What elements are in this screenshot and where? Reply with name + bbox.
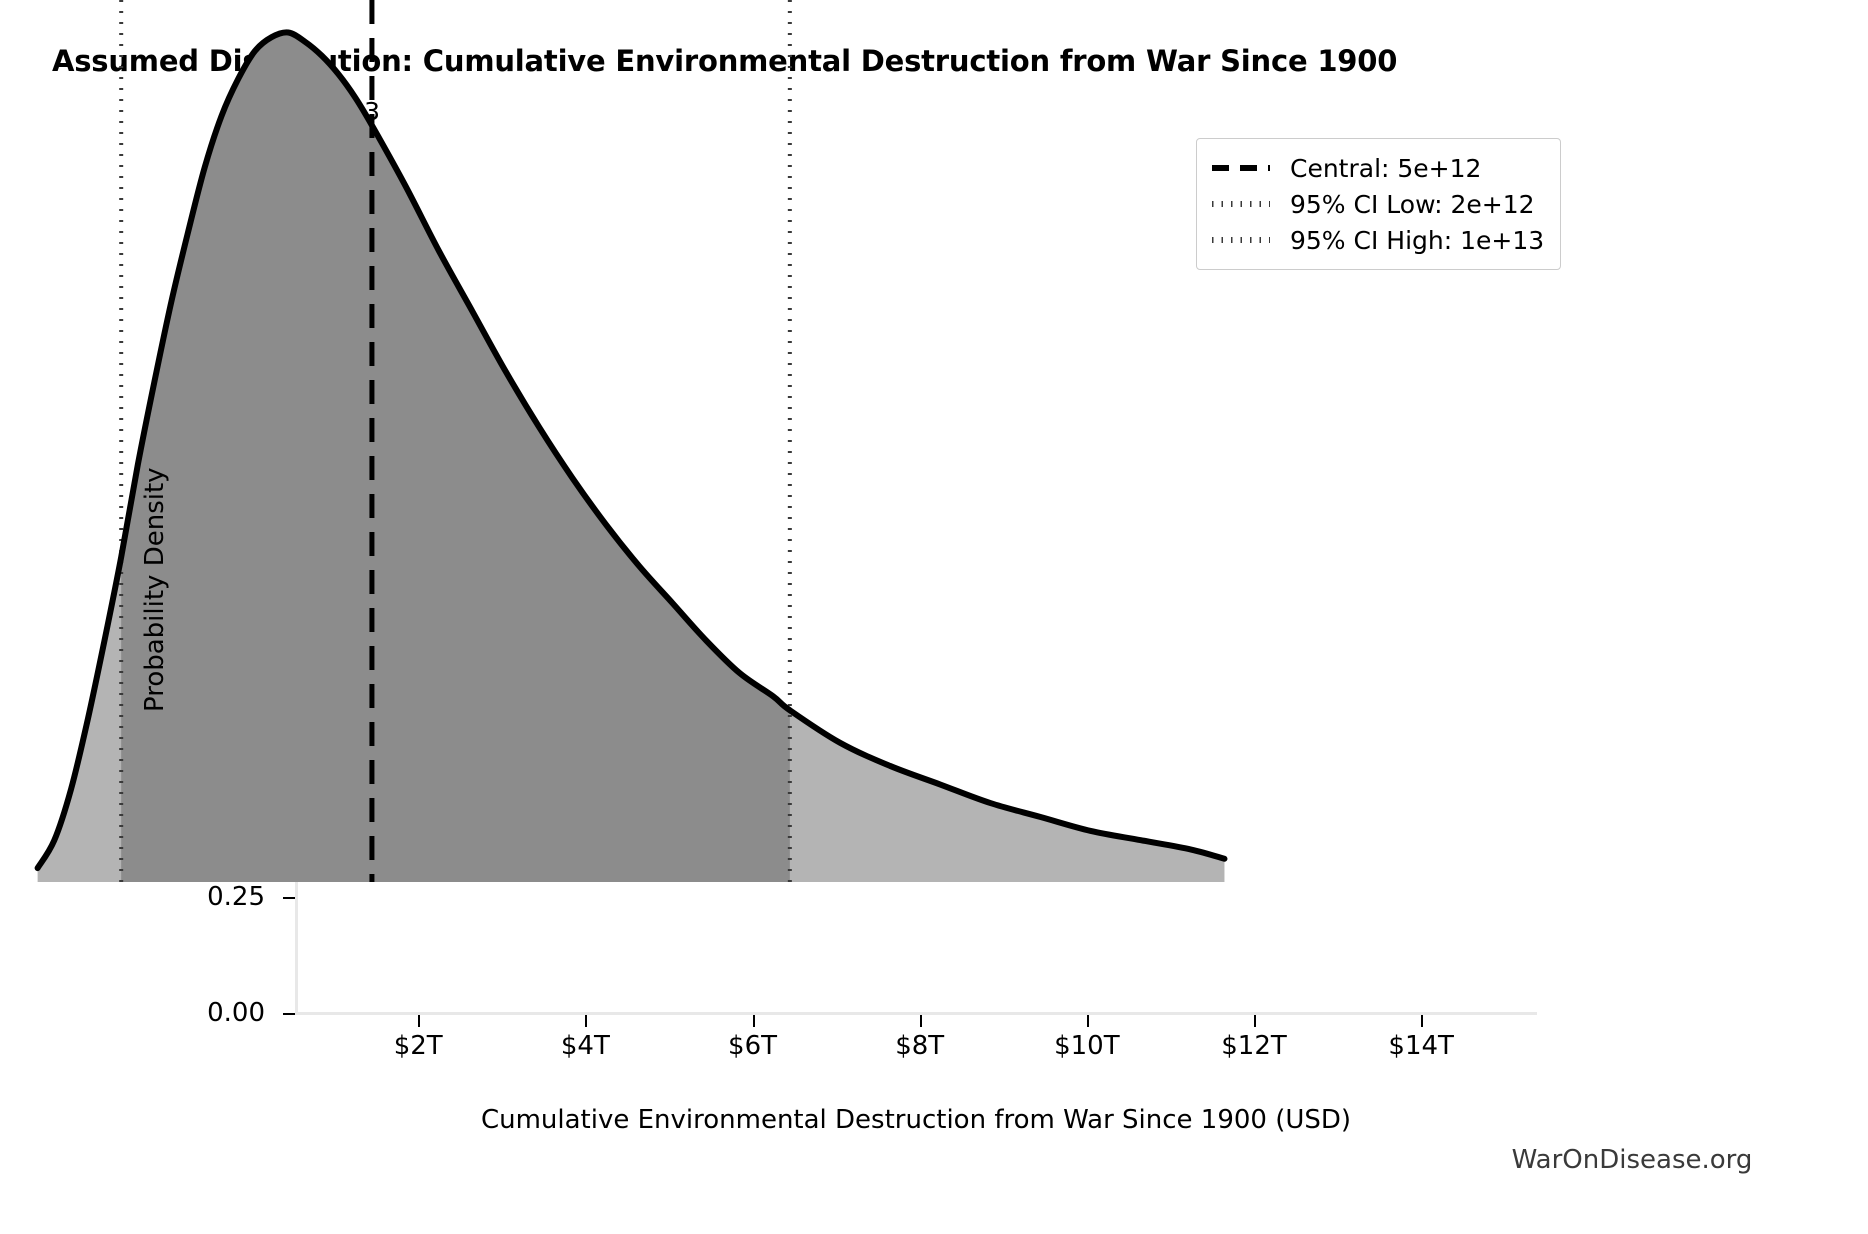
x-tick-label: $14T bbox=[1388, 1031, 1454, 1061]
y-tick-mark bbox=[283, 897, 295, 899]
legend-label-ci-low: 95% CI Low: 2e+12 bbox=[1290, 190, 1535, 219]
x-tick-mark bbox=[585, 1015, 587, 1027]
x-tick-label: $10T bbox=[1054, 1031, 1120, 1061]
legend-item-ci-high[interactable]: 95% CI High: 1e+13 bbox=[1210, 222, 1544, 258]
legend-swatch-dotted-low bbox=[1210, 193, 1272, 215]
x-axis-spine bbox=[295, 1012, 1537, 1015]
x-tick-mark bbox=[1254, 1015, 1256, 1027]
chart-legend: Central: 5e+12 95% CI Low: 2e+12 95% CI … bbox=[1196, 138, 1561, 270]
x-tick-label: $8T bbox=[895, 1031, 944, 1061]
watermark: WarOnDisease.org bbox=[1512, 1145, 1753, 1175]
x-tick-mark bbox=[753, 1015, 755, 1027]
legend-swatch-dotted-high bbox=[1210, 229, 1272, 251]
y-tick-mark bbox=[283, 1013, 295, 1015]
x-tick-mark bbox=[1087, 1015, 1089, 1027]
legend-swatch-dashed bbox=[1210, 157, 1272, 179]
x-tick-label: $6T bbox=[728, 1031, 777, 1061]
legend-item-central[interactable]: Central: 5e+12 bbox=[1210, 150, 1544, 186]
x-tick-mark bbox=[418, 1015, 420, 1027]
legend-item-ci-low[interactable]: 95% CI Low: 2e+12 bbox=[1210, 186, 1544, 222]
x-tick-label: $4T bbox=[561, 1031, 610, 1061]
x-tick-mark bbox=[1421, 1015, 1423, 1027]
legend-label-ci-high: 95% CI High: 1e+13 bbox=[1290, 226, 1544, 255]
x-tick-mark bbox=[920, 1015, 922, 1027]
x-tick-label: $2T bbox=[394, 1031, 443, 1061]
x-axis-title: Cumulative Environmental Destruction fro… bbox=[481, 1105, 1351, 1135]
x-tick-label: $12T bbox=[1221, 1031, 1287, 1061]
y-tick-label: 0.00 bbox=[207, 998, 265, 1028]
y-axis-title: Probability Density bbox=[140, 0, 170, 712]
legend-label-central: Central: 5e+12 bbox=[1290, 154, 1481, 183]
y-tick-label: 0.25 bbox=[207, 882, 265, 912]
chart-figure: Assumed Distribution: Cumulative Environ… bbox=[0, 0, 1868, 1234]
area-fill-inside-ci bbox=[38, 32, 1225, 882]
distribution-plot bbox=[0, 0, 1237, 882]
